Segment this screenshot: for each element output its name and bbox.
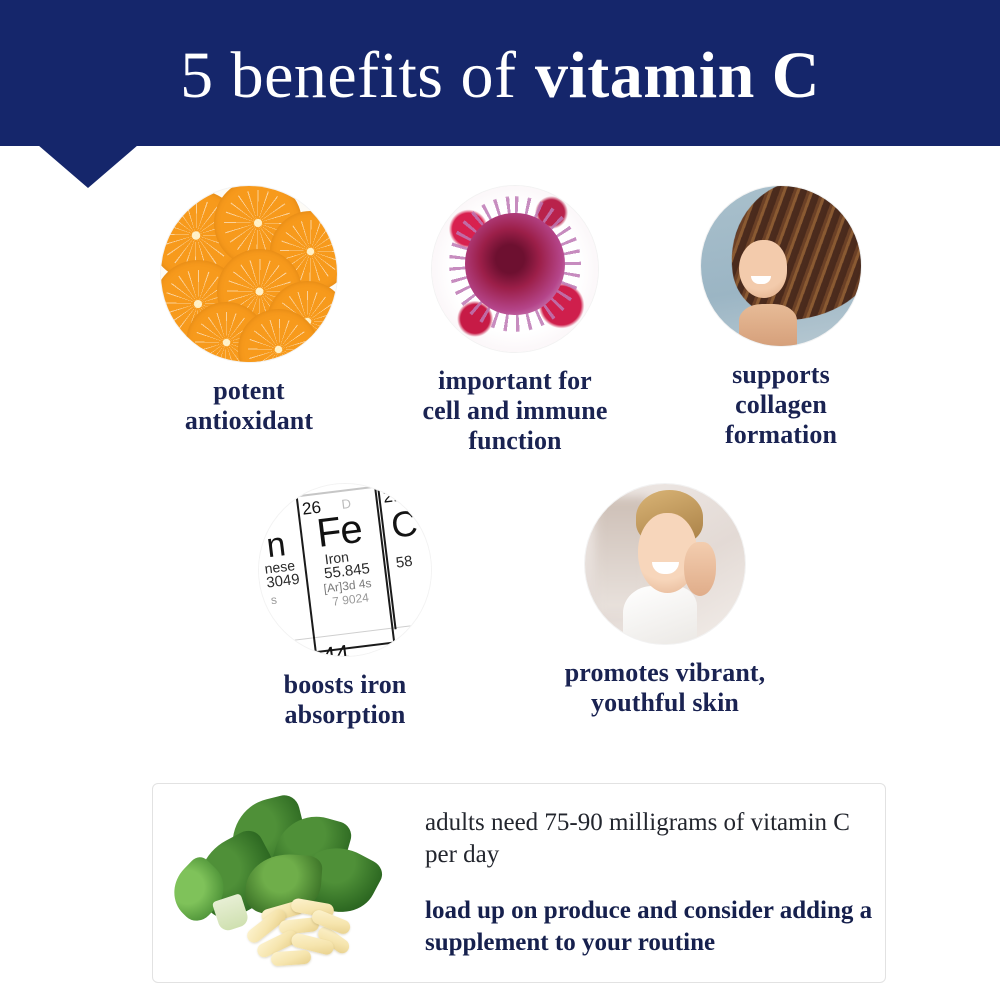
label-line: potent <box>185 376 313 406</box>
fe-bottom-number: 44 <box>321 640 351 656</box>
page-title: 5 benefits of vitamin C <box>0 0 1000 146</box>
label-line: absorption <box>284 700 407 730</box>
benefit-collagen-label: supports collagen formation <box>725 360 837 450</box>
daily-intake-card: adults need 75-90 milligrams of vitamin … <box>152 783 886 983</box>
glowing-skin-photo <box>585 484 745 644</box>
infographic-root: 5 benefits of vitamin C potent ant <box>0 0 1000 992</box>
label-line: formation <box>725 420 837 450</box>
benefit-skin-label: promotes vibrant, youthful skin <box>565 658 766 718</box>
fe-left-mass: 3049 <box>265 571 300 592</box>
benefit-iron: 26 Fe Iron 55.845 [Ar]3d 4s 7 9024 n nes… <box>250 484 440 730</box>
label-line: collagen <box>725 390 837 420</box>
label-line: promotes vibrant, <box>565 658 766 688</box>
page-title-bold: vitamin C <box>535 43 820 109</box>
label-line: important for <box>423 366 608 396</box>
header-notch-triangle <box>38 145 138 188</box>
benefit-antioxidant: potent antioxidant <box>154 186 344 456</box>
leafy-greens-and-supplements-photo <box>161 793 411 973</box>
daily-intake-regular-line: adults need 75-90 milligrams of vitamin … <box>425 807 875 871</box>
page-title-light: 5 benefits of <box>180 43 516 109</box>
healthy-hair-photo <box>701 186 861 346</box>
fe-right-mass: 58 <box>395 552 414 571</box>
fe-right-symbol: C <box>389 503 420 548</box>
label-line: cell and immune <box>423 396 608 426</box>
periodic-table-iron-photo: 26 Fe Iron 55.845 [Ar]3d 4s 7 9024 n nes… <box>259 484 431 656</box>
benefit-collagen: supports collagen formation <box>686 186 876 456</box>
daily-intake-bold-line: load up on produce and consider adding a… <box>425 895 875 959</box>
benefit-row-2: 26 Fe Iron 55.845 [Ar]3d 4s 7 9024 n nes… <box>250 484 770 730</box>
daily-intake-text: adults need 75-90 milligrams of vitamin … <box>411 807 885 959</box>
label-line: supports <box>725 360 837 390</box>
benefit-row-1: potent antioxidant important for cell an… <box>150 186 880 456</box>
benefit-iron-label: boosts iron absorption <box>284 670 407 730</box>
benefit-antioxidant-label: potent antioxidant <box>185 376 313 436</box>
orange-slices-photo <box>161 186 337 362</box>
label-line: youthful skin <box>565 688 766 718</box>
label-line: boosts iron <box>284 670 407 700</box>
fe-faint-label: D <box>341 496 352 512</box>
benefit-immune-label: important for cell and immune function <box>423 366 608 456</box>
label-line: function <box>423 426 608 456</box>
label-line: antioxidant <box>185 406 313 436</box>
immune-cell-photo <box>432 186 598 352</box>
fe-left-config: s <box>270 593 278 608</box>
benefit-immune: important for cell and immune function <box>400 186 630 456</box>
benefit-skin: promotes vibrant, youthful skin <box>560 484 770 730</box>
